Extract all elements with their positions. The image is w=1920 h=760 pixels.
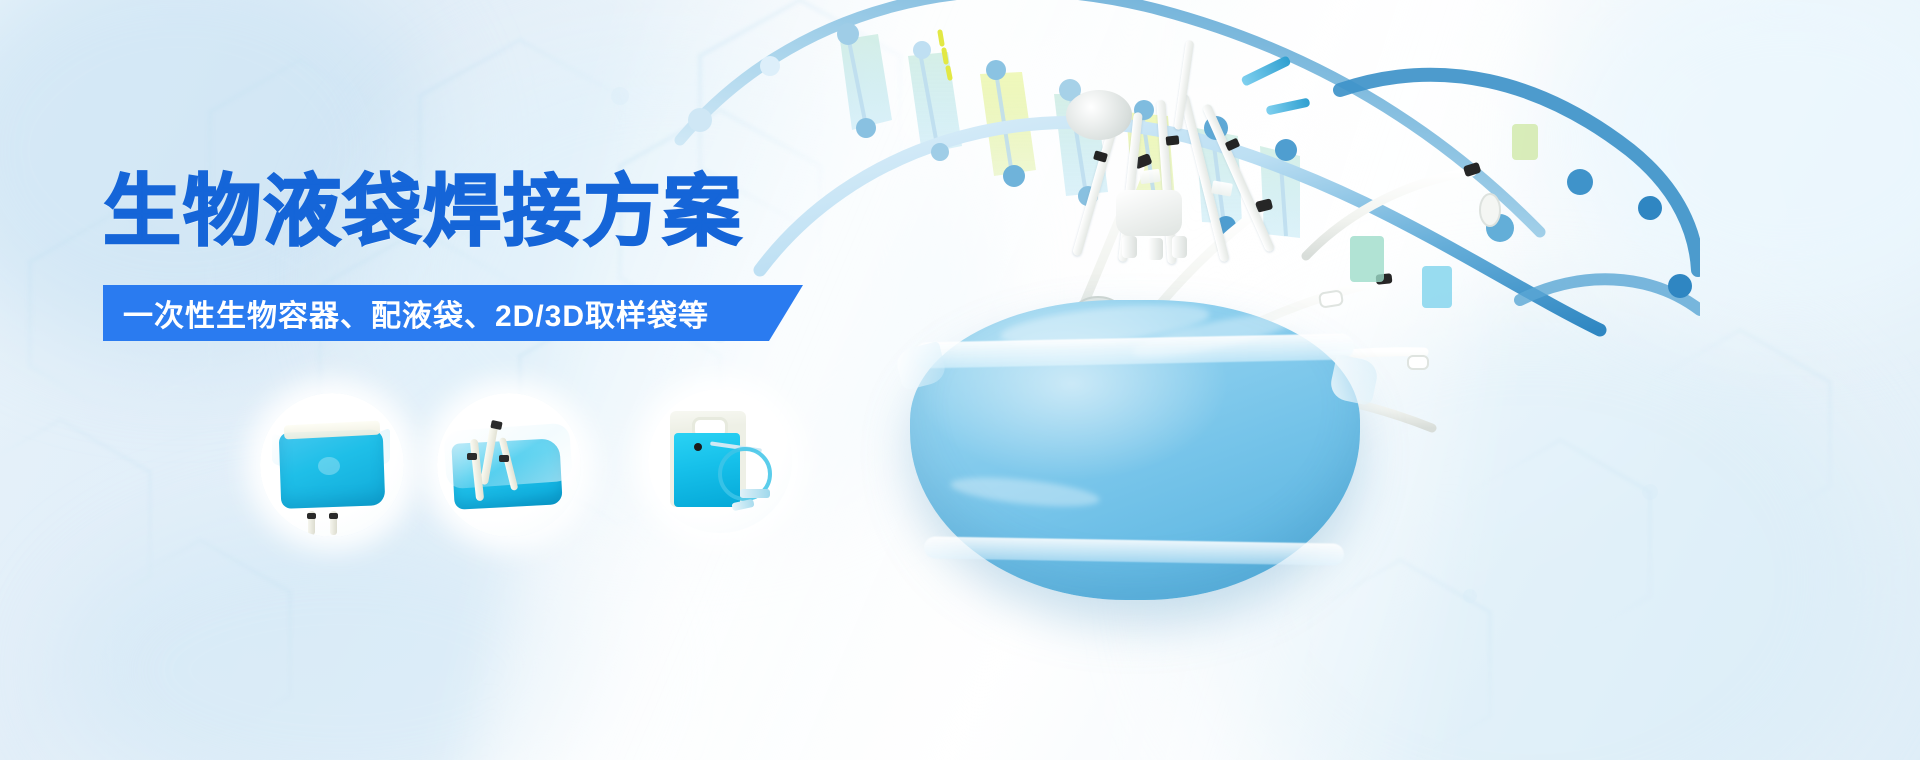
product-thumbnail-2[interactable] xyxy=(437,393,581,537)
background-blob xyxy=(60,520,620,760)
tubing-manifold-assembly xyxy=(1030,40,1350,320)
product-thumbnail-3[interactable] xyxy=(648,389,792,533)
product-thumbnail-1[interactable] xyxy=(260,393,404,537)
subtitle-text: 一次性生物容器、配液袋、2D/3D取样袋等 xyxy=(103,291,709,335)
filter-disc-icon xyxy=(1066,90,1132,140)
tube-connector-icon xyxy=(740,489,770,498)
main-product-bag xyxy=(880,250,1400,670)
tube-clamp-icon xyxy=(307,513,316,519)
subtitle-banner: 一次性生物容器、配液袋、2D/3D取样袋等 xyxy=(103,285,803,341)
page-title: 生物液袋焊接方案 xyxy=(103,172,743,252)
banner-stage: 生物液袋焊接方案 一次性生物容器、配液袋、2D/3D取样袋等 xyxy=(0,0,1920,760)
tube-clamp-icon xyxy=(499,455,509,462)
tube-clamp-icon xyxy=(329,513,338,519)
bag-highlight xyxy=(318,457,340,475)
tube-clamp-icon xyxy=(467,453,477,460)
manifold-hub xyxy=(1116,190,1182,236)
tube-clamp-icon xyxy=(694,443,702,451)
